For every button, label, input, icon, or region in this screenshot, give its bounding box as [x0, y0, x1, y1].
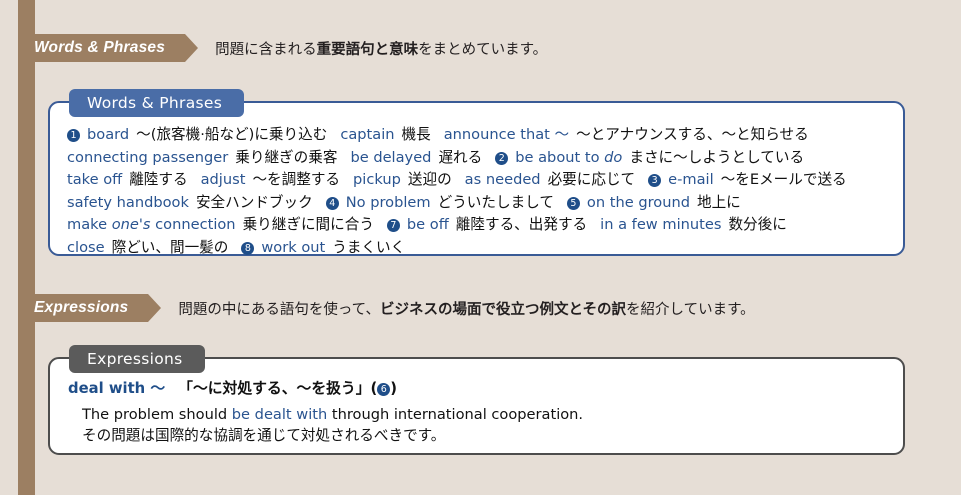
vocab-english: e-mail — [668, 171, 714, 188]
section-banner-words-phrases: Words & Phrases 問題に含まれる重要語句と意味をまとめています。 — [18, 34, 547, 62]
words-phrases-line: close際どい、間一髪の8work outうまくいく — [67, 237, 893, 260]
expression-headword-row: deal with 〜「〜に対処する、〜を扱う」(6) — [68, 379, 893, 399]
banner-description-words-phrases: 問題に含まれる重要語句と意味をまとめています。 — [215, 38, 547, 59]
banner-desc-emphasis: 重要語句と意味 — [317, 42, 419, 58]
vocab-english: announce that 〜 — [444, 126, 569, 143]
vocab-english: adjust — [201, 171, 246, 188]
card-tab-label-words-phrases: Words & Phrases — [87, 94, 222, 112]
expression-ref-close: ) — [390, 380, 397, 397]
vocab-english: captain — [340, 126, 394, 143]
words-phrases-list: 1board〜(旅客機·船など)に乗り込むcaptain機長announce t… — [67, 124, 893, 260]
vocab-english: as needed — [465, 171, 541, 188]
vocab-japanese: 〜(旅客機·船など)に乗り込む — [136, 126, 327, 143]
words-phrases-line: take off離陸するadjust〜を調整するpickup送迎のas need… — [67, 169, 893, 192]
vocab-english: be off — [407, 216, 449, 233]
banner-description-expressions: 問題の中にある語句を使って、ビジネスの場面で役立つ例文とその訳を紹介しています。 — [178, 298, 754, 319]
vocab-japanese: 機長 — [402, 126, 431, 143]
expression-example-english: The problem should be dealt with through… — [82, 405, 893, 425]
words-phrases-line: safety handbook安全ハンドブック4No problemどういたしま… — [67, 192, 893, 215]
banner-label-words-phrases: Words & Phrases — [34, 39, 165, 57]
card-tab-label-expressions: Expressions — [87, 350, 183, 368]
card-tab-expressions: Expressions — [69, 345, 205, 373]
vocab-english: safety handbook — [67, 194, 189, 211]
vocab-english: connection — [151, 216, 236, 233]
vocab-english-italic: do — [604, 149, 622, 166]
vocab-english: pickup — [353, 171, 401, 188]
banner-label-expressions: Expressions — [34, 299, 128, 317]
vocab-japanese: 際どい、間一髪の — [112, 239, 229, 256]
banner-desc-text-2: をまとめています。 — [418, 42, 547, 58]
banner-arrow-expressions: Expressions — [18, 294, 148, 322]
banner-desc-text-1: 問題に含まれる — [215, 42, 317, 58]
entry-number-badge: 8 — [241, 242, 254, 255]
vocab-japanese: 〜を調整する — [252, 171, 340, 188]
vocab-english: board — [87, 126, 129, 143]
example-en-part-1: The problem should — [82, 406, 232, 423]
banner-arrow-words-phrases: Words & Phrases — [18, 34, 185, 62]
vocab-japanese: 離陸する — [129, 171, 187, 188]
words-phrases-line: 1board〜(旅客機·船など)に乗り込むcaptain機長announce t… — [67, 124, 893, 147]
vocab-english: make — [67, 216, 112, 233]
vocab-english: be delayed — [350, 149, 431, 166]
vocab-japanese: 離陸する、出発する — [456, 216, 587, 233]
vocab-english: take off — [67, 171, 122, 188]
entry-number-badge: 5 — [567, 197, 580, 210]
banner-desc-text-2: を紹介しています。 — [626, 302, 755, 318]
example-en-part-2: through international cooperation. — [327, 406, 583, 423]
vocab-japanese: 〜をEメールで送る — [721, 171, 847, 188]
words-phrases-card: Words & Phrases 1board〜(旅客機·船など)に乗り込むcap… — [48, 101, 905, 256]
entry-number-badge: 4 — [326, 197, 339, 210]
vocab-japanese: うまくいく — [332, 239, 405, 256]
expressions-content: deal with 〜「〜に対処する、〜を扱う」(6) The problem … — [68, 379, 893, 446]
vocab-japanese: まさに〜しようとしている — [629, 149, 804, 166]
vocab-japanese: 乗り継ぎに間に合う — [243, 216, 374, 233]
banner-desc-text-1: 問題の中にある語句を使って、 — [178, 302, 380, 318]
banner-desc-emphasis: ビジネスの場面で役立つ例文とその訳 — [380, 302, 626, 318]
vocab-japanese: 〜とアナウンスする、〜と知らせる — [576, 126, 809, 143]
words-phrases-line: connecting passenger乗り継ぎの乗客be delayed遅れる… — [67, 147, 893, 170]
expression-example-japanese: その問題は国際的な協調を通じて対処されるべきです。 — [82, 425, 893, 446]
example-en-highlight: be dealt with — [232, 406, 327, 423]
vocab-japanese: 必要に応じて — [548, 171, 636, 188]
vocab-english-italic: one's — [112, 216, 151, 233]
vocab-japanese: どういたしまして — [438, 194, 554, 211]
expression-ref-open: ( — [371, 380, 378, 397]
expression-gloss: 「〜に対処する、〜を扱う」 — [178, 380, 370, 397]
vocab-english: close — [67, 239, 105, 256]
vocab-english: connecting passenger — [67, 149, 228, 166]
vocab-japanese: 数分後に — [728, 216, 786, 233]
expressions-card: Expressions deal with 〜「〜に対処する、〜を扱う」(6) … — [48, 357, 905, 455]
entry-number-badge: 7 — [387, 219, 400, 232]
entry-number-badge: 3 — [648, 174, 661, 187]
vocab-english: on the ground — [587, 194, 690, 211]
vocab-japanese: 地上に — [697, 194, 741, 211]
vocab-japanese: 乗り継ぎの乗客 — [235, 149, 337, 166]
expression-ref-number-badge: 6 — [377, 383, 390, 396]
vocab-english: No problem — [346, 194, 431, 211]
card-tab-words-phrases: Words & Phrases — [69, 89, 244, 117]
vocab-english: in a few minutes — [600, 216, 721, 233]
vocab-english: work out — [261, 239, 325, 256]
vocab-english: be about to — [515, 149, 604, 166]
section-banner-expressions: Expressions 問題の中にある語句を使って、ビジネスの場面で役立つ例文と… — [18, 294, 755, 322]
entry-number-badge: 1 — [67, 129, 80, 142]
left-accent-bar — [18, 0, 35, 495]
expression-headword: deal with 〜 — [68, 380, 165, 397]
entry-number-badge: 2 — [495, 152, 508, 165]
vocab-japanese: 遅れる — [438, 149, 482, 166]
vocab-japanese: 安全ハンドブック — [196, 194, 313, 211]
words-phrases-line: make one's connection乗り継ぎに間に合う7be off離陸す… — [67, 214, 893, 237]
vocab-japanese: 送迎の — [408, 171, 452, 188]
